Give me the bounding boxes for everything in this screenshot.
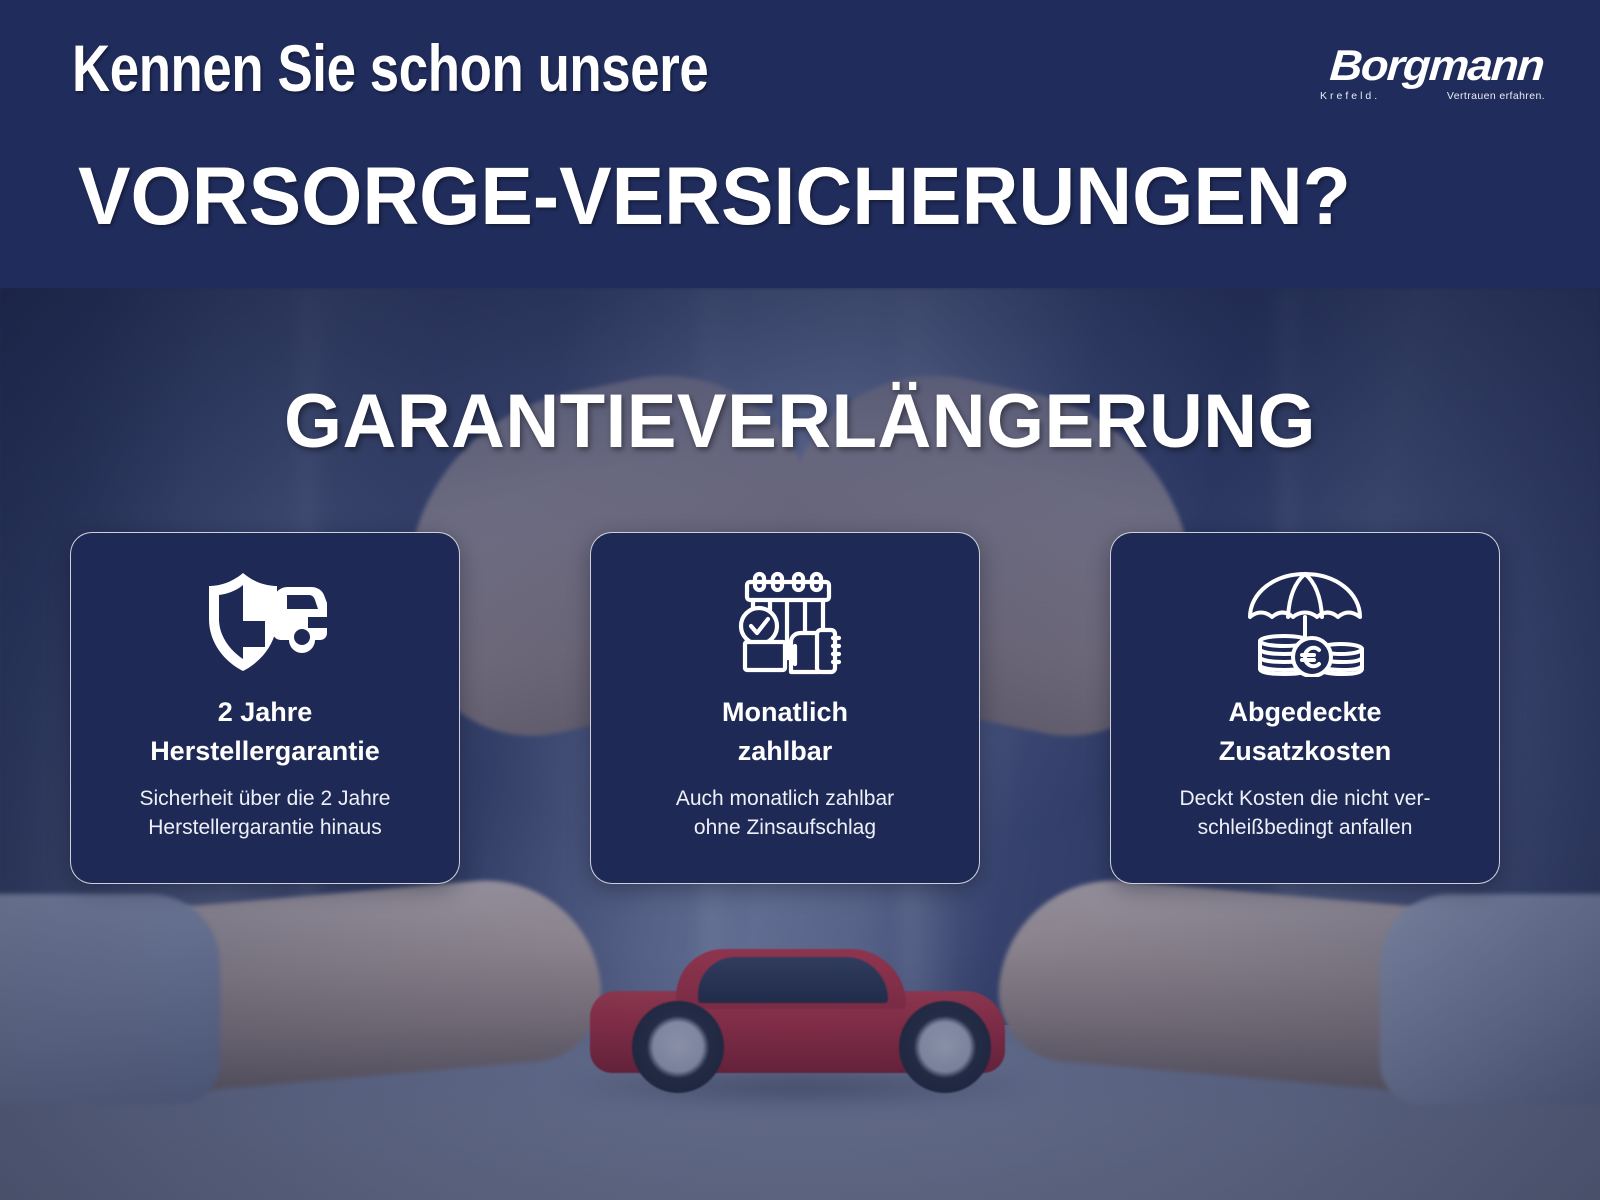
borgmann-logo[interactable]: Borgmann Krefeld. Vertrauen erfahren.	[1320, 42, 1545, 112]
logo-tagline-slogan: Vertrauen erfahren.	[1447, 90, 1545, 102]
umbrella-euro-coins-icon	[1244, 567, 1366, 679]
page-title: GARANTIEVERLÄNGERUNG	[16, 378, 1584, 465]
header-band: Kennen Sie schon unsere VORSORGE-VERSICH…	[0, 0, 1600, 288]
headline-line-1: Kennen Sie schon unsere	[72, 30, 708, 106]
logo-tagline-city: Krefeld.	[1320, 90, 1380, 102]
feature-cards: 2 Jahre Herstellergarantie Sicherheit üb…	[70, 532, 1500, 884]
logo-wordmark: Borgmann	[1305, 42, 1545, 91]
feature-card-description: Auch monatlich zahlbar ohne Zinsaufschla…	[658, 785, 912, 843]
logo-tagline: Krefeld. Vertrauen erfahren.	[1320, 90, 1545, 102]
feature-card-extra-costs[interactable]: Abgedeckte Zusatzkosten Deckt Kosten die…	[1110, 532, 1500, 884]
feature-card-monthly-payment[interactable]: Monatlich zahlbar Auch monatlich zahlbar…	[590, 532, 980, 884]
calendar-check-money-icon	[729, 567, 841, 679]
feature-card-description: Sicherheit über die 2 Jahre Herstellerga…	[122, 785, 409, 843]
promo-banner: Kennen Sie schon unsere VORSORGE-VERSICH…	[0, 0, 1600, 1200]
feature-card-description: Deckt Kosten die nicht ver- schleißbedin…	[1162, 785, 1449, 843]
feature-card-warranty[interactable]: 2 Jahre Herstellergarantie Sicherheit üb…	[70, 532, 460, 884]
headline-line-2: VORSORGE-VERSICHERUNGEN?	[78, 150, 1351, 244]
feature-card-title: Monatlich zahlbar	[706, 693, 864, 771]
feature-card-title: 2 Jahre Herstellergarantie	[134, 693, 396, 771]
shield-car-icon	[203, 567, 327, 679]
feature-card-title: Abgedeckte Zusatzkosten	[1203, 693, 1408, 771]
